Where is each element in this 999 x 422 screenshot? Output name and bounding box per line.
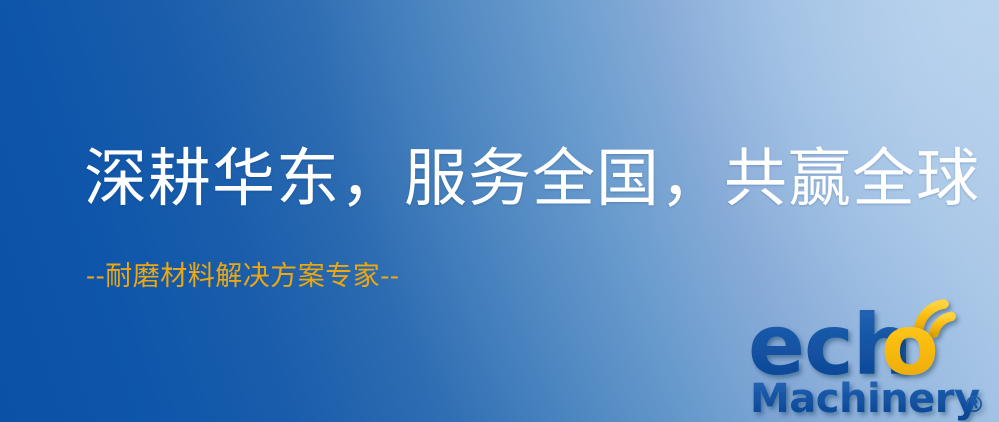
logo-tagline: Machinery ® <box>750 376 985 422</box>
echo-machinery-logo[interactable]: ech o Machinery ® <box>748 296 999 422</box>
banner-subheadline: --耐磨材料解决方案专家-- <box>86 262 400 292</box>
banner-headline: 深耕华东，服务全国，共赢全球 <box>84 147 980 210</box>
logo-tagline-text: Machinery <box>750 376 980 422</box>
registered-trademark-icon: ® <box>963 393 985 418</box>
hero-banner: 深耕华东，服务全国，共赢全球 --耐磨材料解决方案专家-- <box>0 0 999 422</box>
